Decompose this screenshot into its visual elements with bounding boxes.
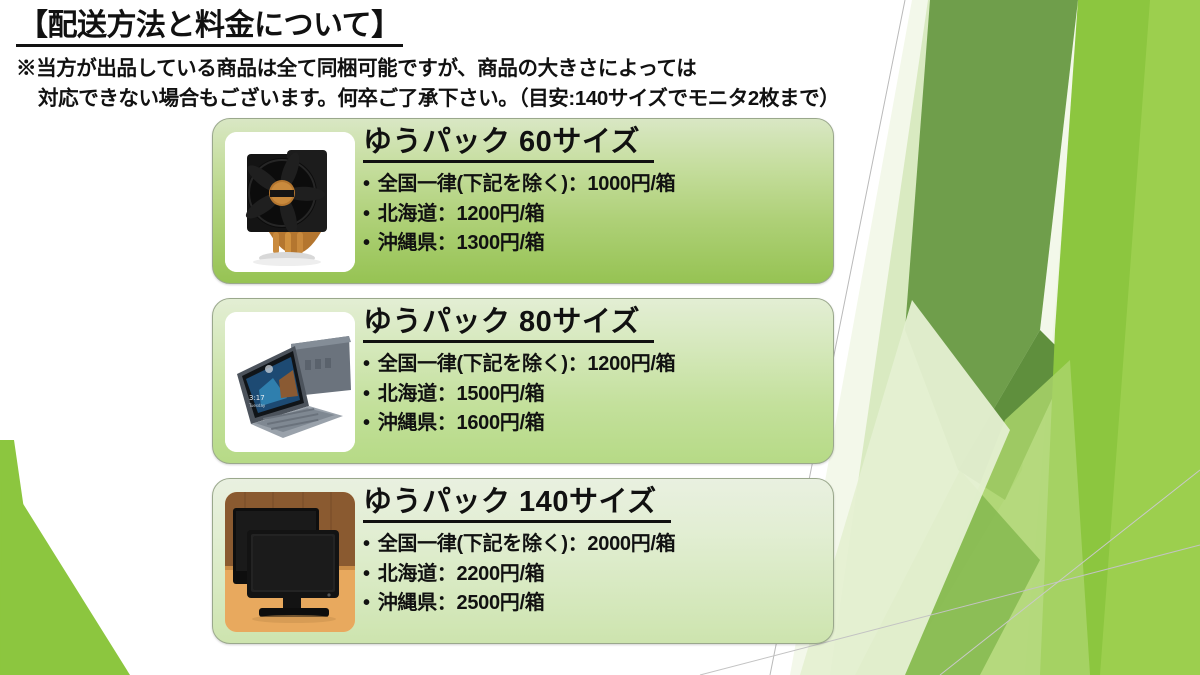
shipping-card-60: ゆうパック 60サイズ 全国一律(下記を除く)：1000円/箱 北海道：1200… (212, 118, 834, 284)
header-note-line2: 対応できない場合もございます。何卒ご了承下さい。（目安:140サイズでモニタ2枚… (16, 84, 976, 113)
rate-item: 全国一律(下記を除く)：1000円/箱 (363, 170, 823, 200)
card-title-60: ゆうパック 60サイズ (363, 125, 654, 163)
rate-item: 全国一律(下記を除く)：1200円/箱 (363, 350, 823, 380)
svg-text:3:17: 3:17 (249, 394, 265, 402)
shipping-info-slide: 【配送方法と料金について】 ※当方が出品している商品は全て同梱可能ですが、商品の… (0, 0, 1200, 675)
rate-list-80: 全国一律(下記を除く)：1200円/箱 北海道：1500円/箱 沖縄県：1600… (363, 350, 823, 439)
rate-item: 北海道：2200円/箱 (363, 560, 823, 590)
page-title: 【配送方法と料金について】 (16, 8, 403, 47)
rate-list-140: 全国一律(下記を除く)：2000円/箱 北海道：2200円/箱 沖縄県：2500… (363, 530, 823, 619)
laptop-photo: 3:17 Tuesday (225, 312, 355, 452)
rate-item: 北海道：1200円/箱 (363, 200, 823, 230)
cpu-cooler-photo (225, 132, 355, 272)
header: 【配送方法と料金について】 ※当方が出品している商品は全て同梱可能ですが、商品の… (16, 8, 976, 113)
rate-item: 全国一律(下記を除く)：2000円/箱 (363, 530, 823, 560)
shipping-card-140: ゆうパック 140サイズ 全国一律(下記を除く)：2000円/箱 北海道：220… (212, 478, 834, 644)
shipping-card-80: 3:17 Tuesday ゆうパック 80サイズ 全国一律(下記を除く)：120… (212, 298, 834, 464)
card-body-60: ゆうパック 60サイズ 全国一律(下記を除く)：1000円/箱 北海道：1200… (363, 125, 823, 259)
card-title-140: ゆうパック 140サイズ (363, 485, 671, 523)
rate-item: 沖縄県：1300円/箱 (363, 229, 823, 259)
svg-text:Tuesday: Tuesday (248, 403, 266, 408)
rate-list-60: 全国一律(下記を除く)：1000円/箱 北海道：1200円/箱 沖縄県：1300… (363, 170, 823, 259)
header-note: ※当方が出品している商品は全て同梱可能ですが、商品の大きさによっては 対応できな… (16, 54, 976, 112)
card-title-80: ゆうパック 80サイズ (363, 305, 654, 343)
card-body-80: ゆうパック 80サイズ 全国一律(下記を除く)：1200円/箱 北海道：1500… (363, 305, 823, 439)
card-body-140: ゆうパック 140サイズ 全国一律(下記を除く)：2000円/箱 北海道：220… (363, 485, 823, 619)
monitor-photo (225, 492, 355, 632)
rate-item: 沖縄県：1600円/箱 (363, 409, 823, 439)
header-note-line1: ※当方が出品している商品は全て同梱可能ですが、商品の大きさによっては (16, 57, 696, 80)
rate-item: 北海道：1500円/箱 (363, 380, 823, 410)
rate-item: 沖縄県：2500円/箱 (363, 589, 823, 619)
